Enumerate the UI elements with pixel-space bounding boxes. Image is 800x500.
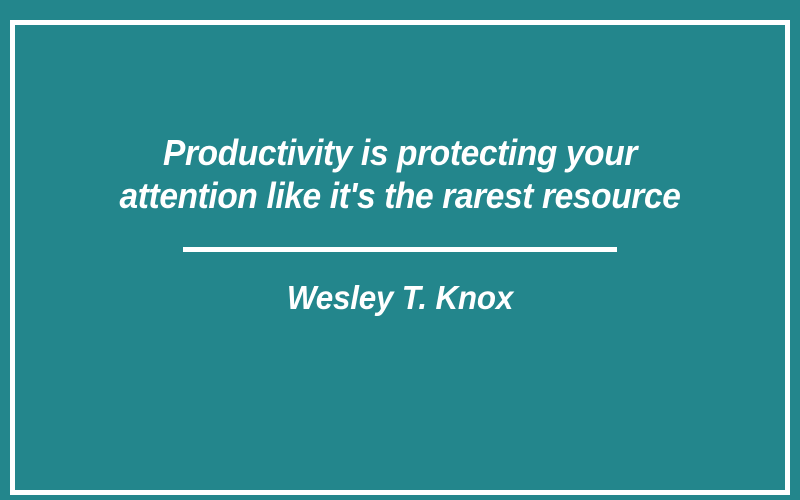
quote-poster: Productivity is protecting your attentio… [0,0,800,500]
quote-text: Productivity is protecting your attentio… [51,131,749,217]
poster-content: Productivity is protecting your attentio… [25,35,775,480]
author-name: Wesley T. Knox [44,279,757,317]
divider-rule [183,247,617,252]
quote-block: Productivity is protecting your attentio… [25,131,775,217]
author-block: Wesley T. Knox [25,279,775,317]
